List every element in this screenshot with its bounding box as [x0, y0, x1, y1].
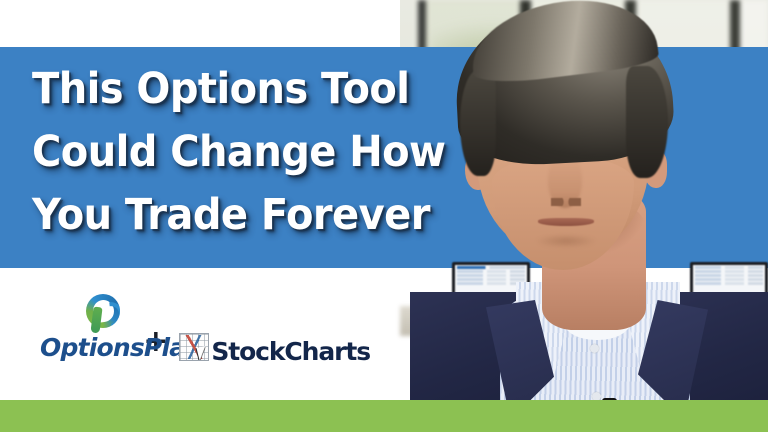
- bottom-green-bar: [0, 400, 768, 432]
- stockcharts-chart-cursor-icon: [179, 333, 209, 361]
- stockcharts-wordmark: StockCharts: [211, 339, 370, 364]
- optionsplay-swoosh-icon: [90, 307, 102, 334]
- title-block: This Options Tool Could Change How You T…: [32, 58, 462, 247]
- optionsplay-wordmark-text: OptionsPlay: [40, 333, 200, 362]
- stockcharts-logo: StockCharts: [179, 324, 370, 364]
- hair-side-right: [626, 66, 668, 178]
- video-thumbnail: This Options Tool Could Change How You T…: [0, 0, 768, 432]
- optionsplay-logo: OptionsPlay®: [40, 294, 132, 364]
- nostrils: [551, 198, 581, 206]
- title-line-1: This Options Tool: [32, 58, 432, 121]
- title-line-3: You Trade Forever: [32, 184, 432, 247]
- shirt-button: [590, 344, 599, 353]
- hair-side-left: [460, 70, 496, 176]
- logo-row: OptionsPlay® + StockCharts: [40, 292, 370, 364]
- mouth: [538, 218, 594, 226]
- title-line-2: Could Change How: [32, 121, 432, 184]
- presenter-photo: [430, 0, 768, 432]
- chin-shadow: [536, 234, 596, 248]
